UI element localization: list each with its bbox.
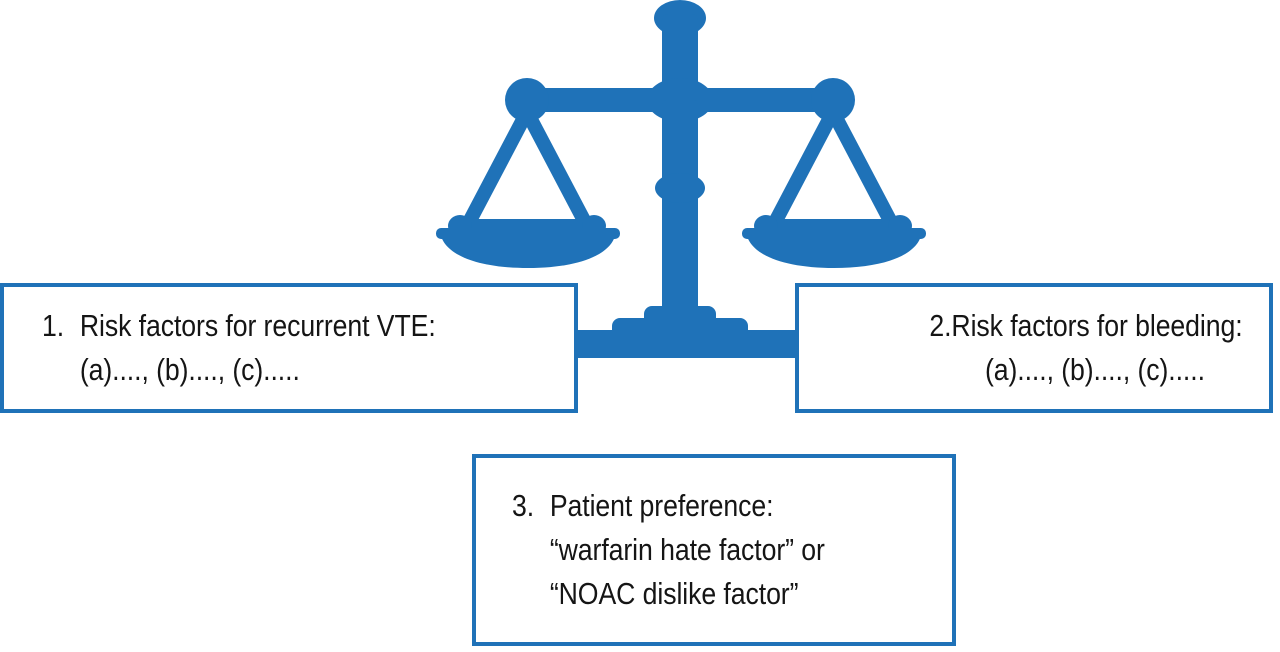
patient-preference-detail-line-2: “NOAC dislike factor” — [512, 572, 938, 616]
risk-factors-bleeding-heading: Risk factors for bleeding: — [952, 308, 1243, 343]
patient-preference-detail-2: “NOAC dislike factor” — [550, 576, 799, 611]
risk-factors-vte-heading-line: 1.Risk factors for recurrent VTE: — [42, 304, 560, 348]
right-pan-rim — [742, 228, 926, 239]
left-pan-rim — [436, 228, 620, 239]
patient-preference-box: 3.Patient preference: “warfarin hate fac… — [472, 454, 956, 646]
risk-factors-bleeding-content: 2.Risk factors for bleeding: (a)...., (b… — [799, 304, 1269, 392]
risk-factors-bleeding-box: 2.Risk factors for bleeding: (a)...., (b… — [795, 283, 1273, 413]
diagram-canvas: 1.Risk factors for recurrent VTE: (a)...… — [0, 0, 1280, 652]
risk-factors-vte-detail: (a)...., (b)...., (c)..... — [80, 352, 300, 387]
risk-factors-vte-content: 1.Risk factors for recurrent VTE: (a)...… — [4, 304, 574, 392]
patient-preference-detail-1: “warfarin hate factor” or — [550, 532, 825, 567]
risk-factors-bleeding-heading-line: 2.Risk factors for bleeding: — [813, 304, 1243, 348]
risk-factors-bleeding-number: 2. — [914, 304, 952, 348]
left-pan-cord-outer — [458, 112, 535, 228]
risk-factors-bleeding-detail: (a)...., (b)...., (c)..... — [985, 352, 1205, 387]
risk-factors-vte-number: 1. — [42, 304, 80, 348]
patient-preference-content: 3.Patient preference: “warfarin hate fac… — [476, 484, 952, 616]
scale-base — [542, 330, 818, 358]
patient-preference-number: 3. — [512, 484, 550, 528]
scale-column-knob — [655, 173, 705, 203]
left-pan-cord-inner — [519, 112, 596, 228]
patient-preference-heading-line: 3.Patient preference: — [512, 484, 938, 528]
right-pan-cord-outer — [825, 112, 902, 228]
right-pan-cord-inner — [764, 112, 841, 228]
scale-column — [662, 100, 698, 328]
patient-preference-detail-line-1: “warfarin hate factor” or — [512, 528, 938, 572]
patient-preference-heading: Patient preference: — [550, 488, 774, 523]
risk-factors-bleeding-detail-line: (a)...., (b)...., (c)..... — [813, 348, 1243, 392]
risk-factors-vte-detail-line: (a)...., (b)...., (c)..... — [42, 348, 560, 392]
risk-factors-vte-heading: Risk factors for recurrent VTE: — [80, 308, 436, 343]
risk-factors-vte-box: 1.Risk factors for recurrent VTE: (a)...… — [0, 283, 578, 413]
